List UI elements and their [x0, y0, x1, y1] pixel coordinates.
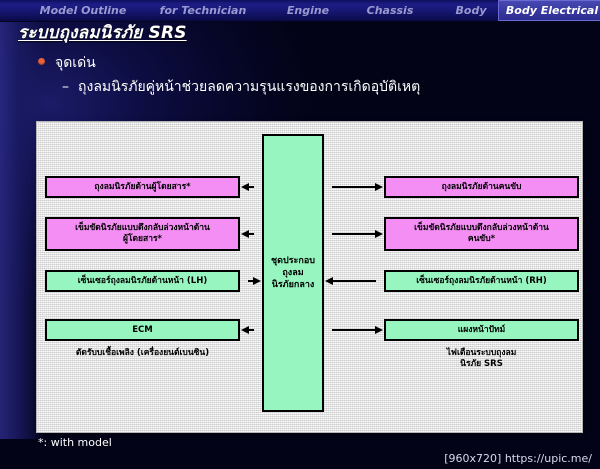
tab-engine[interactable]: Engine: [278, 0, 338, 21]
page-title: ระบบถุงลมนิรภัย SRS: [18, 21, 187, 45]
arrow-left-row-2: [248, 280, 254, 282]
bullet-level-1: จุดเด่น: [38, 52, 96, 74]
top-tab-bar: Model Outlinefor TechnicianEngineChassis…: [0, 0, 600, 22]
tab-chassis[interactable]: Chassis: [360, 0, 420, 21]
center-airbag-assembly-box: ชุดประกอบถุงลมนิรภัยกลาง: [262, 134, 324, 412]
footer-credit: [960x720] https://upic.me/: [444, 452, 592, 465]
arrow-left-row-1: [248, 233, 254, 235]
arrow-right-row-1: [332, 233, 376, 235]
arrow-left-row-3: [248, 329, 254, 331]
bullet-level-2-label: ถุงลมนิรภัยคู่หน้าช่วยลดความรุนแรงของการ…: [78, 79, 420, 95]
bullet-level-2: –ถุงลมนิรภัยคู่หน้าช่วยลดความรุนแรงของกา…: [62, 76, 420, 98]
tab-for-technician[interactable]: for Technician: [148, 0, 258, 21]
diagram-panel: ชุดประกอบถุงลมนิรภัยกลางถุงลมนิรภัยด้านผ…: [37, 122, 582, 432]
right-box-2: เซ็นเซอร์ถุงลมนิรภัยด้านหน้า (RH): [384, 270, 579, 292]
arrow-right-row-3: [332, 329, 376, 331]
arrow-right-row-0: [332, 186, 376, 188]
caption-ecm: ตัดรับบเชื้อเพลิง (เครื่องยนต์เบนซิน): [45, 348, 240, 359]
slide-root: Model Outlinefor TechnicianEngineChassis…: [0, 0, 600, 469]
right-box-3: แผงหน้าปัทม์: [384, 319, 579, 341]
arrow-left-row-0: [248, 186, 254, 188]
dash-icon: –: [62, 79, 69, 95]
left-box-1: เข็มขัดนิรภัยแบบดึงกลับล่วงหน้าด้านผู้โด…: [45, 217, 240, 251]
footnote: *: with model: [38, 436, 112, 449]
left-box-3: ECM: [45, 319, 240, 341]
tab-model-outline[interactable]: Model Outline: [28, 0, 138, 21]
bullet-level-1-label: จุดเด่น: [55, 55, 96, 71]
caption-dashboard: ไฟเตือนระบบถุงลมนิรภัย SRS: [384, 348, 579, 370]
right-box-0: ถุงลมนิรภัยด้านคนขับ: [384, 176, 579, 198]
tab-body[interactable]: Body: [448, 0, 494, 21]
left-box-0: ถุงลมนิรภัยด้านผู้โดยสาร*: [45, 176, 240, 198]
left-box-2: เซ็นเซอร์ถุงลมนิรภัยด้านหน้า (LH): [45, 270, 240, 292]
tab-body-electrical[interactable]: Body Electrical: [498, 0, 600, 21]
arrow-right-row-2: [332, 280, 376, 282]
right-box-1: เข็มขัดนิรภัยแบบดึงกลับล่วงหน้าด้านคนขับ…: [384, 217, 579, 251]
bullet-dot-icon: [38, 58, 45, 65]
